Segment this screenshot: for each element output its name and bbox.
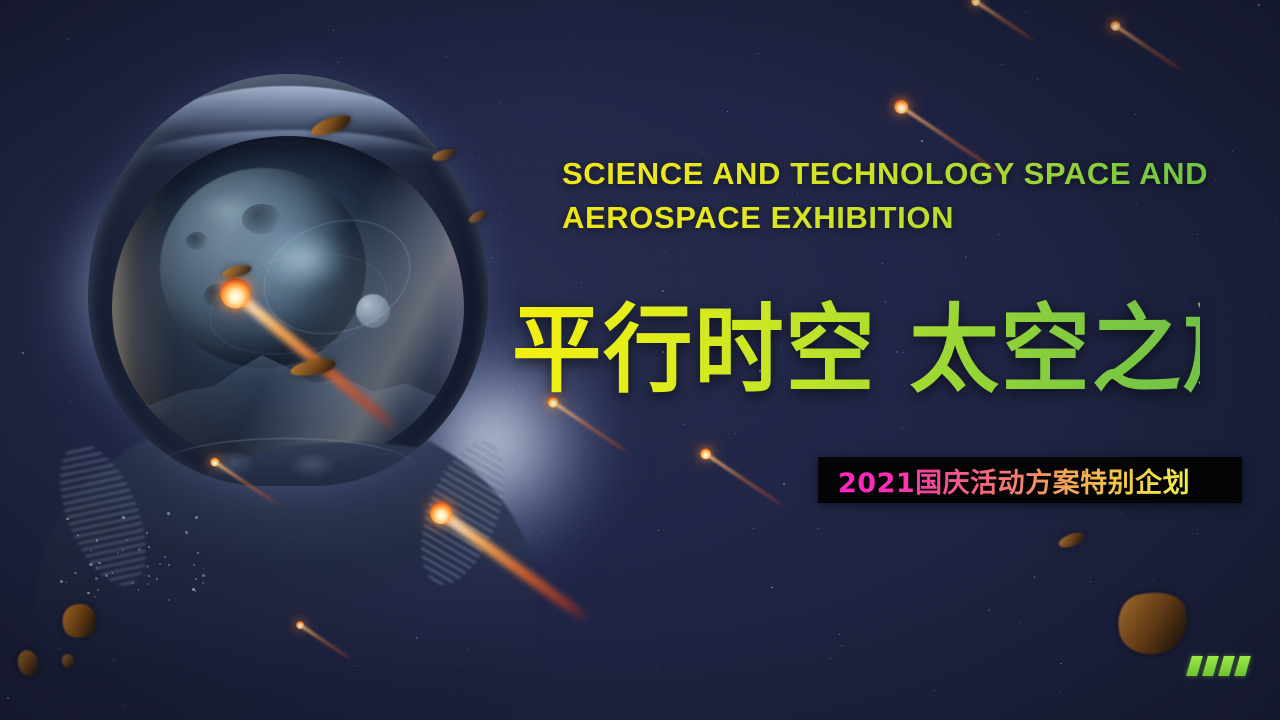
poster-canvas: SCIENCE AND TECHNOLOGY SPACE AND AEROSPA… xyxy=(0,0,1280,720)
corner-accent-bar xyxy=(1186,656,1203,676)
campaign-banner: 2021国庆活动方案特别企划 xyxy=(818,457,1242,503)
campaign-banner-label: 2021国庆活动方案特别企划 xyxy=(818,461,1190,500)
corner-accent-bar xyxy=(1218,656,1235,676)
page-title: 平行时空 太空之旅 xyxy=(512,300,1200,402)
corner-accent-bar xyxy=(1202,656,1219,676)
corner-accent-mark xyxy=(1189,656,1248,676)
english-subtitle: SCIENCE AND TECHNOLOGY SPACE AND AEROSPA… xyxy=(562,152,1222,240)
